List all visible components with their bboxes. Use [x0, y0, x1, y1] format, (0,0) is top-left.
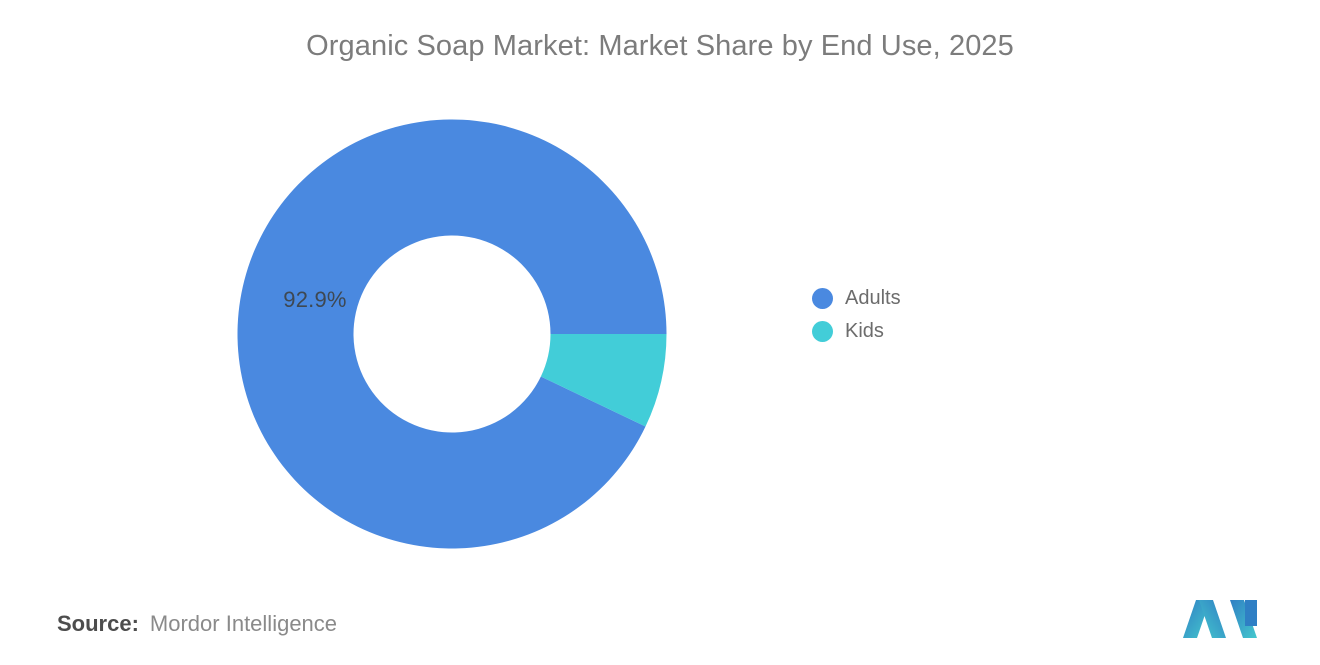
legend-swatch-adults-icon [812, 288, 833, 309]
legend-label-adults: Adults [845, 287, 901, 310]
slice-label-adults: 92.9% [272, 287, 358, 313]
mordor-intelligence-logo-icon [1183, 598, 1257, 640]
source-line: Source: Mordor Intelligence [57, 611, 337, 637]
chart-legend: Adults Kids [812, 282, 901, 348]
legend-item-adults[interactable]: Adults [812, 282, 901, 315]
source-name: Mordor Intelligence [150, 611, 337, 637]
legend-swatch-kids-icon [812, 321, 833, 342]
legend-label-kids: Kids [845, 320, 884, 343]
page-title: Organic Soap Market: Market Share by End… [0, 30, 1320, 63]
donut-chart-svg [237, 119, 667, 549]
source-label: Source: [57, 611, 139, 637]
legend-item-kids[interactable]: Kids [812, 315, 901, 348]
donut-chart [237, 119, 667, 549]
